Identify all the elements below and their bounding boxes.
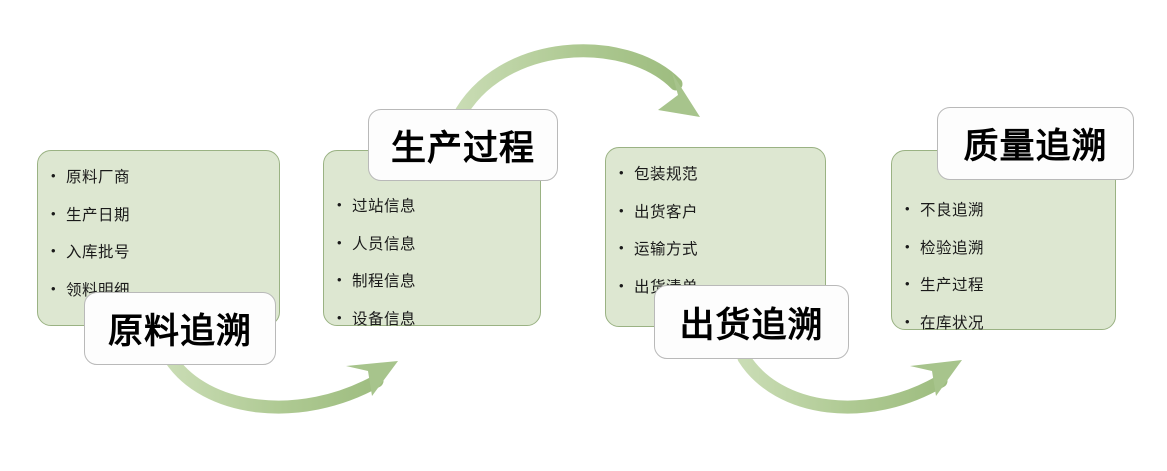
stage-label-raw-material: 原料追溯 [84,292,276,365]
stage-label-shipment: 出货追溯 [654,285,849,359]
list-item: 入库批号 [49,245,279,261]
list-item: 人员信息 [335,237,540,253]
list-item: 过站信息 [335,199,540,215]
list-item: 生产日期 [49,208,279,224]
stage-label-quality: 质量追溯 [937,107,1134,180]
arrow-raw-to-production-icon [170,358,398,407]
list-item: 出货客户 [617,205,825,221]
list-item: 不良追溯 [903,203,1115,219]
list-item: 制程信息 [335,274,540,290]
list-item: 包装规范 [617,167,825,183]
arrow-production-to-shipment-icon [458,51,700,118]
list-item: 原料厂商 [49,170,279,186]
list-item: 运输方式 [617,242,825,258]
stage-item-list: 包装规范 出货客户 运输方式 出货清单 [606,148,825,295]
stage-label-production: 生产过程 [368,109,558,181]
list-item: 生产过程 [903,278,1115,294]
traceability-flow-diagram: 原料厂商 生产日期 入库批号 领料明细 过站信息 人员信息 制程信息 设备信息 … [0,0,1167,471]
list-item: 检验追溯 [903,241,1115,257]
stage-item-list: 原料厂商 生产日期 入库批号 领料明细 [38,151,279,298]
list-item: 在库状况 [903,316,1115,332]
list-item: 设备信息 [335,312,540,328]
arrow-shipment-to-quality-icon [744,358,962,407]
